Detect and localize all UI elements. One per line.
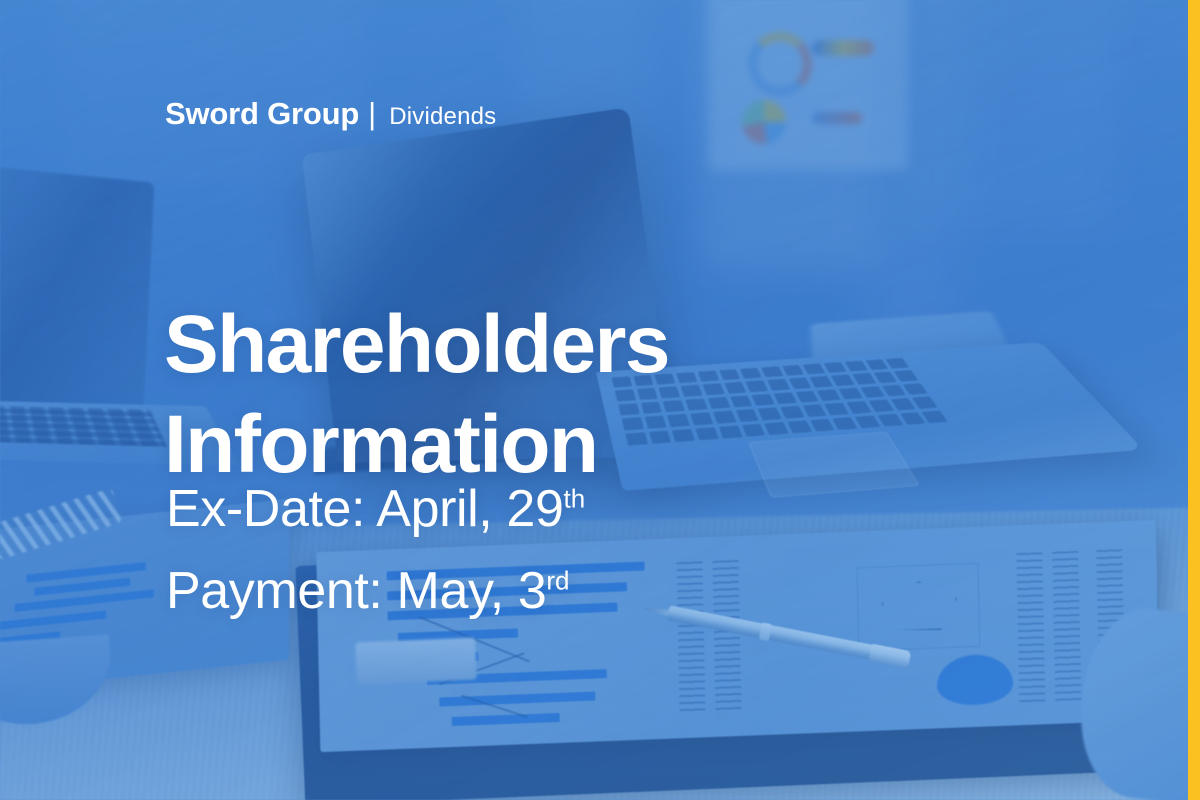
- payment-day: 3: [518, 562, 547, 620]
- dividend-announcement-poster: Sword Group | Dividends Shareholders Inf…: [0, 0, 1200, 800]
- brand-subtitle: Dividends: [389, 103, 496, 131]
- ex-date-ordinal: th: [563, 484, 585, 514]
- brand-separator: |: [368, 96, 376, 132]
- page-title-line-1: Shareholders: [164, 295, 669, 395]
- accent-bar-right: [1188, 0, 1200, 800]
- ex-date-day: 29: [506, 480, 563, 538]
- payment-date-line: Payment: May, 3rd: [166, 550, 585, 632]
- ex-date-label: Ex-Date:: [166, 480, 365, 538]
- ex-date-month: April,: [376, 480, 492, 538]
- key-dates: Ex-Date: April, 29th Payment: May, 3rd: [166, 468, 585, 632]
- payment-month: May,: [397, 562, 504, 620]
- ex-date-line: Ex-Date: April, 29th: [166, 468, 585, 550]
- page-title: Shareholders Information: [164, 295, 669, 495]
- text-content-layer: Sword Group | Dividends Shareholders Inf…: [0, 0, 1200, 800]
- brand-name: Sword Group: [165, 96, 359, 132]
- brand-lockup: Sword Group | Dividends: [165, 96, 496, 132]
- payment-ordinal: rd: [546, 566, 569, 596]
- payment-label: Payment:: [166, 562, 382, 620]
